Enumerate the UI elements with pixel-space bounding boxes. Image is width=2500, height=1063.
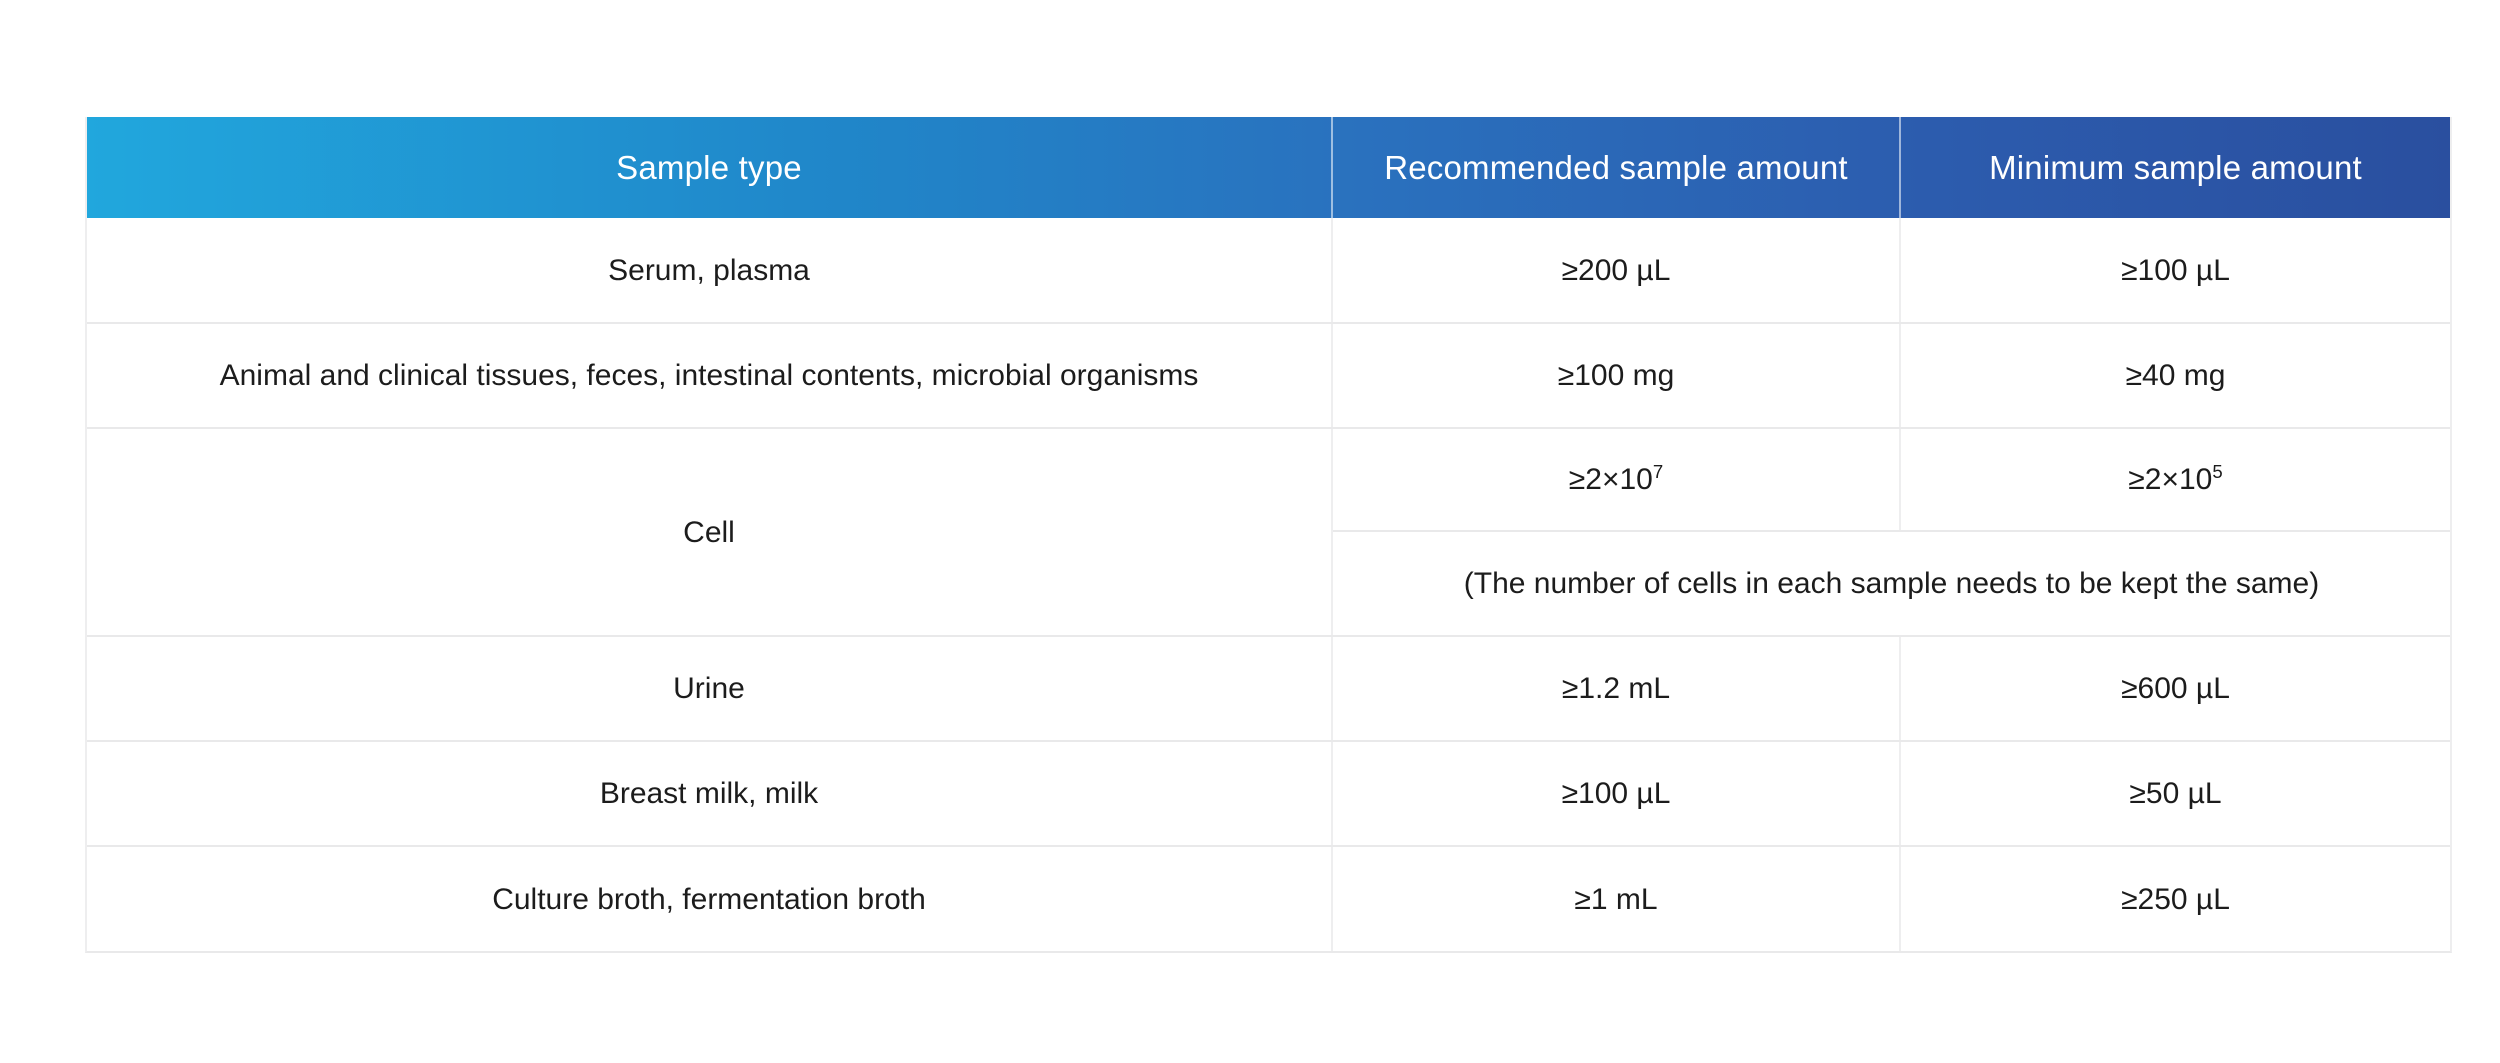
cell-recommended-amount: ≥2×107 [1332, 428, 1900, 531]
page-canvas: Sample type Recommended sample amount Mi… [0, 0, 2500, 1063]
column-header-minimum-sample-amount: Minimum sample amount [1900, 117, 2450, 218]
cell-sample-type: Culture broth, fermentation broth [87, 846, 1332, 951]
table-row: Breast milk, milk ≥100 µL ≥50 µL [87, 741, 2450, 846]
cell-minimum-amount: ≥250 µL [1900, 846, 2450, 951]
minimum-cell-count-exponent: 5 [2212, 461, 2222, 482]
cell-recommended-amount: ≥100 µL [1332, 741, 1900, 846]
cell-sample-type: Serum, plasma [87, 218, 1332, 323]
cell-sample-type-cell-merged: Cell [87, 428, 1332, 636]
sample-requirements-table: Sample type Recommended sample amount Mi… [87, 117, 2450, 951]
recommended-cell-count-base: ≥2×10 [1569, 463, 1653, 496]
table-header: Sample type Recommended sample amount Mi… [87, 117, 2450, 218]
cell-recommended-amount: ≥200 µL [1332, 218, 1900, 323]
column-header-sample-type: Sample type [87, 117, 1332, 218]
table-row: Serum, plasma ≥200 µL ≥100 µL [87, 218, 2450, 323]
table-body: Serum, plasma ≥200 µL ≥100 µL Animal and… [87, 218, 2450, 951]
cell-recommended-amount: ≥1.2 mL [1332, 636, 1900, 741]
cell-note-cell-count: (The number of cells in each sample need… [1332, 531, 2450, 636]
table-row: Cell ≥2×107 ≥2×105 [87, 428, 2450, 531]
cell-sample-type: Urine [87, 636, 1332, 741]
cell-sample-type: Breast milk, milk [87, 741, 1332, 846]
cell-minimum-amount: ≥50 µL [1900, 741, 2450, 846]
cell-minimum-amount: ≥100 µL [1900, 218, 2450, 323]
header-row: Sample type Recommended sample amount Mi… [87, 117, 2450, 218]
sample-requirements-table-wrapper: Sample type Recommended sample amount Mi… [85, 117, 2452, 953]
cell-recommended-amount: ≥1 mL [1332, 846, 1900, 951]
recommended-cell-count-exponent: 7 [1653, 461, 1663, 482]
minimum-cell-count: ≥2×105 [2128, 463, 2222, 496]
cell-minimum-amount: ≥600 µL [1900, 636, 2450, 741]
table-row: Animal and clinical tissues, feces, inte… [87, 323, 2450, 428]
table-row: Urine ≥1.2 mL ≥600 µL [87, 636, 2450, 741]
table-row: Culture broth, fermentation broth ≥1 mL … [87, 846, 2450, 951]
cell-minimum-amount: ≥2×105 [1900, 428, 2450, 531]
column-header-recommended-sample-amount: Recommended sample amount [1332, 117, 1900, 218]
cell-sample-type: Animal and clinical tissues, feces, inte… [87, 323, 1332, 428]
minimum-cell-count-base: ≥2×10 [2128, 463, 2212, 496]
recommended-cell-count: ≥2×107 [1569, 463, 1663, 496]
cell-recommended-amount: ≥100 mg [1332, 323, 1900, 428]
cell-minimum-amount: ≥40 mg [1900, 323, 2450, 428]
